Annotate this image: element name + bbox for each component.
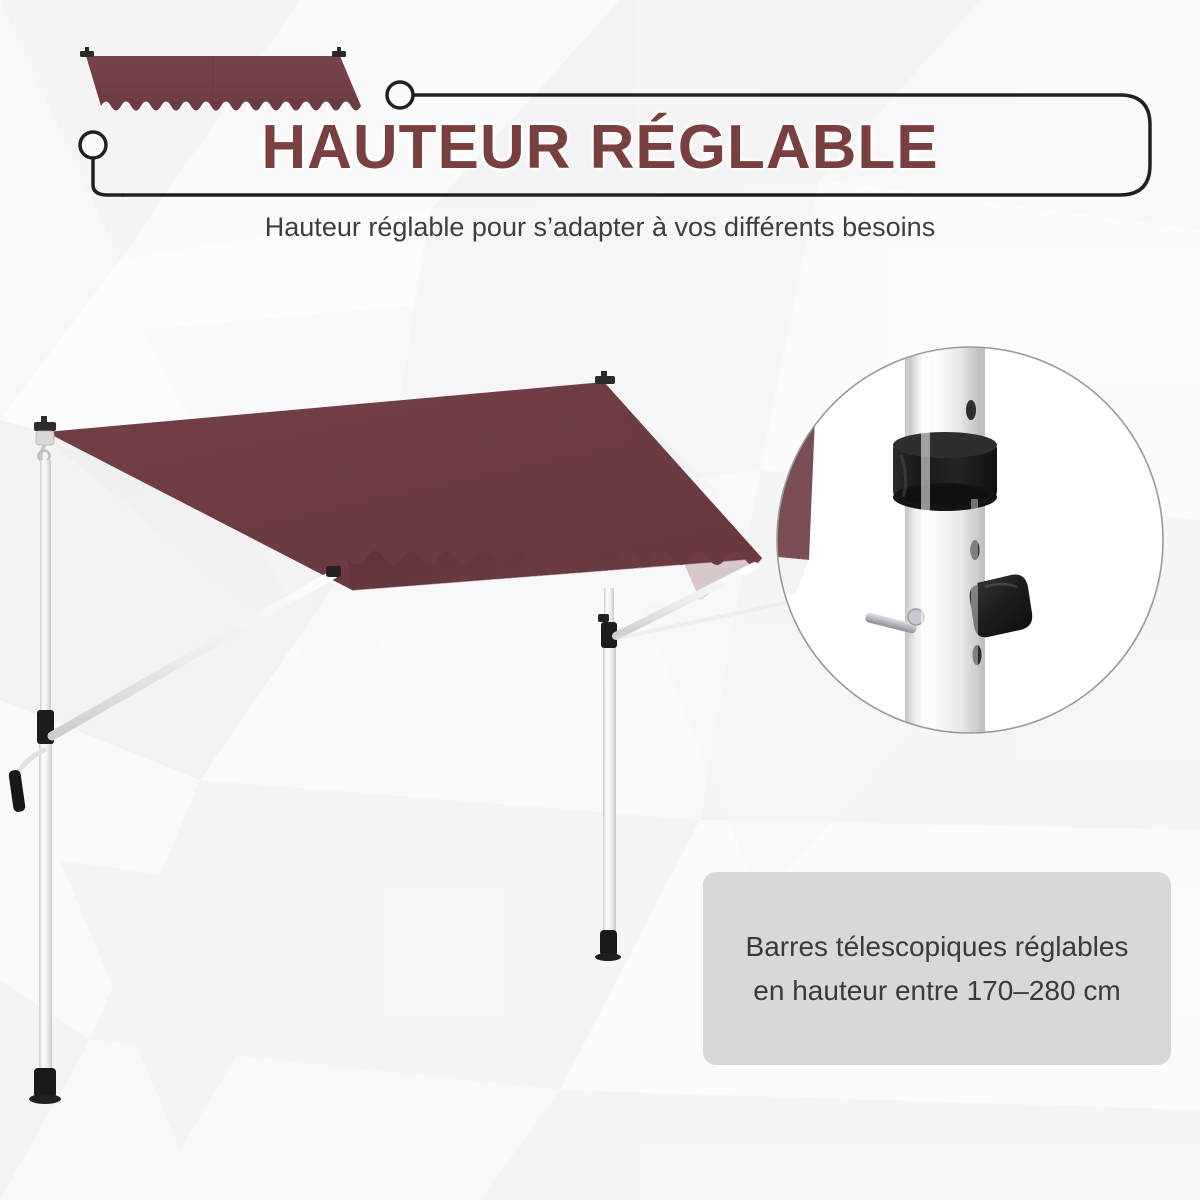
left-pole-foot-cap	[34, 1068, 56, 1098]
left-support-arm	[52, 574, 334, 736]
infographic-page: HAUTEUR RÉGLABLE Hauteur réglable pour s…	[0, 0, 1200, 1200]
canopy-apex-clamp	[595, 371, 615, 384]
page-subtitle: Hauteur réglable pour s’adapter à vos di…	[0, 212, 1200, 243]
left-pole-crank-handle	[8, 769, 26, 812]
adjustment-knob	[970, 575, 1033, 638]
page-title: HAUTEUR RÉGLABLE	[0, 112, 1200, 183]
caption-line-2: en hauteur entre 170–280 cm	[753, 969, 1120, 1012]
adjustment-hole-icon	[966, 400, 976, 420]
pole-collar-ring	[893, 432, 997, 511]
caption-box: Barres télescopiques réglables en hauteu…	[703, 872, 1171, 1065]
header: HAUTEUR RÉGLABLE Hauteur réglable pour s…	[0, 0, 1200, 270]
telescopic-pole-clamp-detail	[775, 345, 1165, 735]
bracket-node-top-icon	[387, 82, 413, 108]
right-pole-foot-cap	[600, 930, 617, 956]
caption-line-1: Barres télescopiques réglables	[746, 925, 1129, 968]
